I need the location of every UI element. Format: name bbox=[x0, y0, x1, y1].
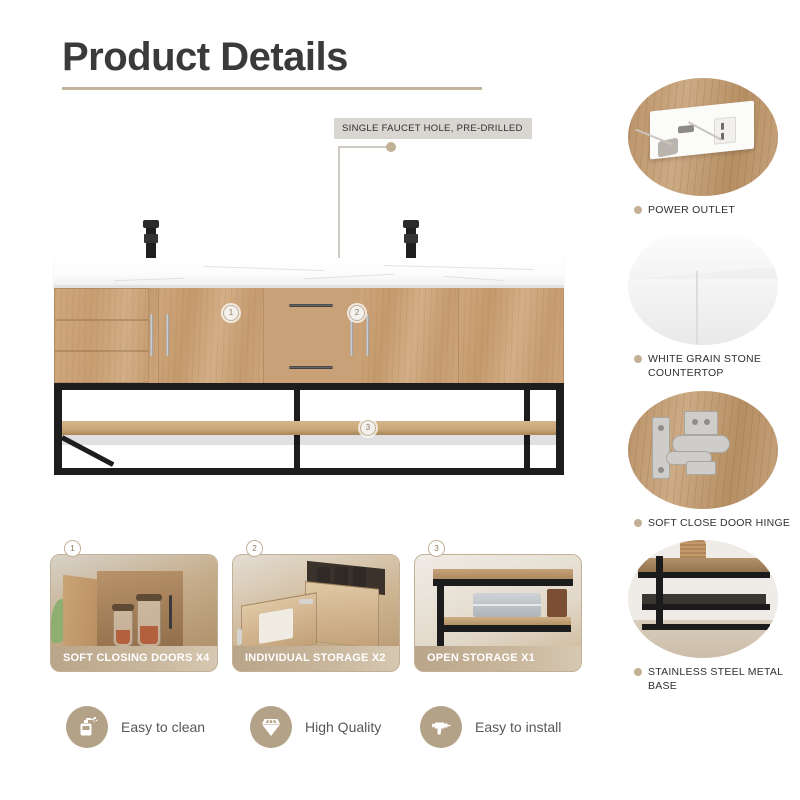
bullet-icon bbox=[634, 206, 642, 214]
cabinet-door-3 bbox=[359, 288, 459, 383]
jar-contents bbox=[140, 626, 158, 644]
folded-towels bbox=[473, 593, 541, 617]
faucet-hole-callout: SINGLE FAUCET HOLE, PRE-DRILLED bbox=[334, 118, 532, 139]
storage-box bbox=[547, 589, 567, 617]
storage-jar bbox=[113, 609, 133, 647]
sidebar-label-countertop: WHITE GRAIN STONE COUNTERTOP bbox=[634, 352, 800, 380]
stone-countertop bbox=[54, 258, 564, 290]
folded-towel bbox=[259, 608, 293, 644]
feature-sidebar: POWER OUTLET WHITE GRAIN STONE COUNTERTO… bbox=[612, 78, 800, 703]
jar-lid bbox=[112, 604, 134, 611]
stone-front-face bbox=[628, 279, 778, 345]
card-badge-1: 1 bbox=[64, 540, 81, 557]
cabinet-door-4 bbox=[459, 288, 564, 383]
door-handle bbox=[166, 314, 169, 356]
drawer-middle bbox=[54, 320, 149, 351]
sidebar-label-text: SOFT CLOSE DOOR HINGE bbox=[648, 517, 790, 529]
image-badge-2: 2 bbox=[349, 305, 365, 321]
callout-dot-top bbox=[386, 142, 396, 152]
drawer-handle bbox=[237, 629, 242, 645]
card-badge-3: 3 bbox=[428, 540, 445, 557]
frame-bar-top bbox=[54, 383, 564, 390]
sidebar-item-door-hinge[interactable]: SOFT CLOSE DOOR HINGE bbox=[612, 391, 800, 530]
frame-bar-left bbox=[54, 383, 62, 475]
stone-countertop-thumbnail bbox=[628, 227, 778, 345]
page-title: Product Details bbox=[62, 36, 532, 78]
storage-jar bbox=[137, 599, 161, 647]
image-badge-3: 3 bbox=[360, 420, 376, 436]
benefit-easy-to-install: Easy to install bbox=[420, 706, 561, 748]
bullet-icon bbox=[634, 355, 642, 363]
bullet-icon bbox=[634, 519, 642, 527]
marble-vein bbox=[114, 278, 184, 281]
sidebar-label-text: STAINLESS STEEL METAL BASE bbox=[648, 666, 783, 692]
frame-bar-right bbox=[556, 383, 564, 475]
faucet-neck bbox=[144, 234, 158, 243]
sidebar-label-text: WHITE GRAIN STONE COUNTERTOP bbox=[648, 353, 761, 379]
door-handle bbox=[150, 314, 153, 356]
faucet-left bbox=[146, 220, 156, 262]
metal-post bbox=[656, 556, 663, 630]
faucet-neck bbox=[404, 234, 418, 243]
sidebar-label-text: POWER OUTLET bbox=[648, 204, 735, 216]
marble-vein bbox=[384, 265, 534, 270]
metal-bar bbox=[437, 625, 571, 632]
hinge-screw bbox=[692, 419, 698, 425]
drawer-handle bbox=[289, 304, 333, 307]
callout-label: SINGLE FAUCET HOLE, PRE-DRILLED bbox=[334, 118, 532, 139]
vanity-illustration bbox=[54, 220, 564, 475]
metal-base-frame bbox=[54, 383, 564, 475]
hinge-screw bbox=[658, 425, 664, 431]
drill-icon bbox=[420, 706, 462, 748]
main-product-image: SINGLE FAUCET HOLE, PRE-DRILLED bbox=[40, 110, 600, 510]
drawer-top bbox=[54, 288, 149, 320]
card-caption-1: SOFT CLOSING DOORS X4 bbox=[51, 646, 217, 671]
drawer-handle bbox=[299, 599, 313, 604]
card-badge-2: 2 bbox=[246, 540, 263, 557]
feature-card-open-storage[interactable]: OPEN STORAGE X1 bbox=[414, 554, 582, 672]
cabinet-body bbox=[54, 288, 564, 383]
faucet-head bbox=[143, 220, 159, 228]
hinge-screw bbox=[704, 419, 710, 425]
sidebar-item-power-outlet[interactable]: POWER OUTLET bbox=[612, 78, 800, 217]
sidebar-label-power-outlet: POWER OUTLET bbox=[634, 203, 800, 217]
outlet-socket bbox=[714, 116, 736, 144]
drawer-handle bbox=[289, 366, 333, 369]
benefit-label: High Quality bbox=[305, 719, 381, 735]
callout-leader-horizontal bbox=[338, 146, 390, 148]
marble-vein bbox=[444, 276, 504, 281]
cabinet-handle bbox=[169, 595, 172, 629]
metal-base-thumbnail bbox=[628, 540, 778, 658]
spray-bottle-icon bbox=[66, 706, 108, 748]
title-underline bbox=[62, 87, 482, 90]
hinge-arm bbox=[684, 411, 718, 435]
sidebar-label-door-hinge: SOFT CLOSE DOOR HINGE bbox=[634, 516, 800, 530]
door-hinge-thumbnail bbox=[628, 391, 778, 509]
sidebar-item-metal-base[interactable]: STAINLESS STEEL METAL BASE bbox=[612, 540, 800, 693]
jar-lid bbox=[136, 594, 162, 601]
shelf-shadow bbox=[62, 435, 556, 445]
marble-vein bbox=[304, 274, 394, 280]
image-badge-1: 1 bbox=[223, 305, 239, 321]
benefit-label: Easy to clean bbox=[121, 719, 205, 735]
open-wood-shelf bbox=[62, 421, 556, 435]
hinge-screw bbox=[658, 467, 664, 473]
drawer-bottom bbox=[54, 351, 149, 383]
power-outlet-thumbnail bbox=[628, 78, 778, 196]
hinge-body bbox=[672, 435, 730, 453]
feature-card-soft-closing-doors[interactable]: SOFT CLOSING DOORS X4 bbox=[50, 554, 218, 672]
sidebar-label-metal-base: STAINLESS STEEL METAL BASE bbox=[634, 665, 800, 693]
door-handle bbox=[366, 314, 369, 356]
benefit-row: Easy to clean High Quality Easy to insta bbox=[60, 706, 590, 768]
benefit-label: Easy to install bbox=[475, 719, 561, 735]
card-caption-3: OPEN STORAGE X1 bbox=[415, 646, 581, 671]
faucet-head bbox=[403, 220, 419, 228]
metal-bar bbox=[433, 579, 573, 586]
feature-card-row: 1 SOFT CLOSING DOORS X4 2 bbox=[48, 540, 593, 670]
metal-post bbox=[437, 579, 444, 655]
benefit-high-quality: High Quality bbox=[250, 706, 381, 748]
open-cabinet-door bbox=[63, 575, 97, 658]
jar-contents bbox=[116, 630, 130, 644]
marble-vein bbox=[204, 266, 324, 271]
diamond-icon bbox=[250, 706, 292, 748]
sidebar-item-countertop[interactable]: WHITE GRAIN STONE COUNTERTOP bbox=[612, 227, 800, 380]
page-header: Product Details bbox=[62, 36, 532, 90]
card-caption-2: INDIVIDUAL STORAGE X2 bbox=[233, 646, 399, 671]
usb-port bbox=[678, 125, 694, 134]
frame-bar-bottom bbox=[54, 468, 564, 475]
feature-card-individual-storage[interactable]: INDIVIDUAL STORAGE X2 bbox=[232, 554, 400, 672]
stone-corner-edge bbox=[696, 271, 698, 345]
hinge-cup bbox=[686, 461, 716, 475]
faucet-right bbox=[406, 220, 416, 262]
door-handle bbox=[350, 314, 353, 356]
cabinet-door-2 bbox=[159, 288, 264, 383]
stone-background bbox=[628, 227, 778, 345]
benefit-easy-to-clean: Easy to clean bbox=[66, 706, 205, 748]
bullet-icon bbox=[634, 668, 642, 676]
